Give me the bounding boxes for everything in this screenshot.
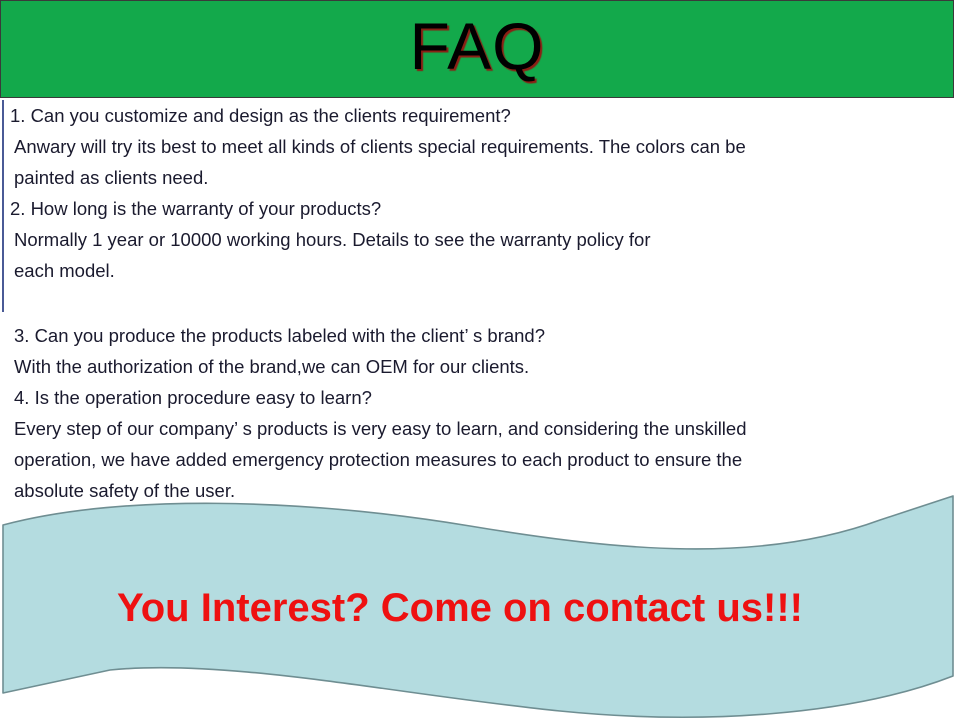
faq-question-3: 3. Can you produce the products labeled … [0, 320, 940, 351]
header-banner: FAQ [0, 0, 954, 98]
faq-question-4: 4. Is the operation procedure easy to le… [0, 382, 940, 413]
faq-answer-4-line-2: operation, we have added emergency prote… [0, 444, 940, 475]
faq-answer-4-line-1: Every step of our company’ s products is… [0, 413, 940, 444]
faq-answer-2-line-1: Normally 1 year or 10000 working hours. … [0, 224, 940, 255]
faq-section-gap [0, 286, 940, 320]
faq-question-2: 2. How long is the warranty of your prod… [0, 193, 940, 224]
cta-headline: You Interest? Come on contact us!!! [0, 586, 920, 631]
faq-answer-1-line-1: Anwary will try its best to meet all kin… [0, 131, 940, 162]
slide-canvas: FAQ 1. Can you customize and design as t… [0, 0, 960, 720]
page-title: FAQ [409, 13, 544, 79]
faq-answer-3-line-1: With the authorization of the brand,we c… [0, 351, 940, 382]
faq-list: 1. Can you customize and design as the c… [0, 100, 940, 506]
faq-question-1: 1. Can you customize and design as the c… [0, 100, 940, 131]
faq-answer-1-line-2: painted as clients need. [0, 162, 940, 193]
faq-answer-2-line-2: each model. [0, 255, 940, 286]
